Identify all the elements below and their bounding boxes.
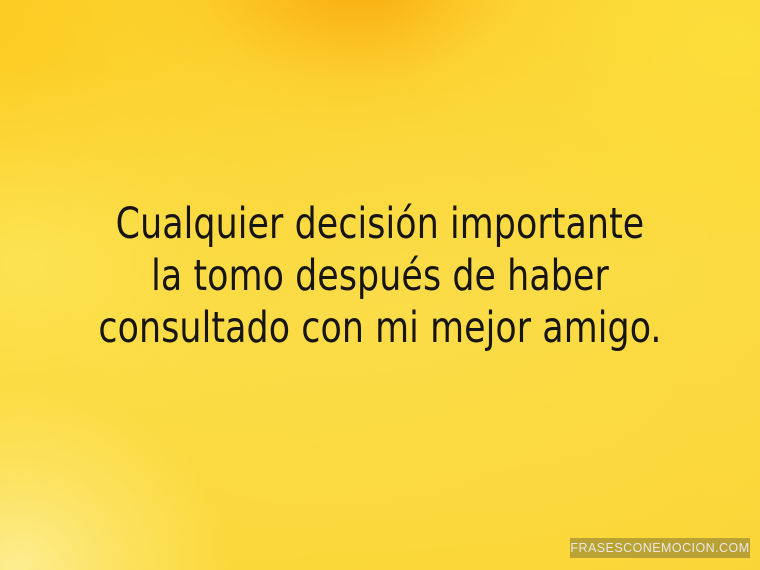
quote-line-1: Cualquier decisión importante (38, 198, 722, 250)
watermark-badge: FRASESCONEMOCION.COM (570, 538, 750, 558)
quote-line-3: consultado con mi mejor amigo. (38, 302, 722, 354)
quote-text-block: Cualquier decisión importante la tomo de… (0, 198, 760, 354)
watermark-label: FRASESCONEMOCION.COM (570, 542, 749, 555)
quote-line-2: la tomo después de haber (38, 250, 722, 302)
quote-card: Cualquier decisión importante la tomo de… (0, 0, 760, 570)
